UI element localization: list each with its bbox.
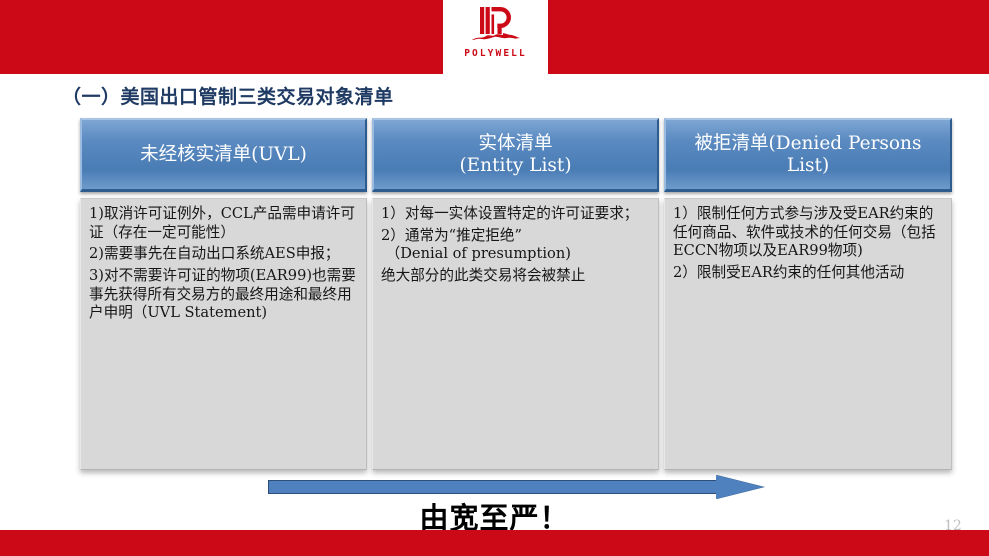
comparison-table: 未经核实清单(UVL) 1)取消许可证例外，CCL产品需申请许可证（存在一定可能… — [80, 118, 952, 470]
column-header-line: 实体清单 — [459, 133, 571, 155]
table-column-uvl: 未经核实清单(UVL) 1)取消许可证例外，CCL产品需申请许可证（存在一定可能… — [80, 118, 367, 470]
brand-wordmark: POLYWELL — [464, 49, 527, 59]
list-item: 2）限制受EAR约束的任何其他活动 — [673, 264, 944, 283]
column-header-uvl: 未经核实清单(UVL) — [80, 118, 367, 192]
table-column-entity-list: 实体清单 (Entity List) 1）对每一实体设置特定的许可证要求； 2）… — [372, 118, 659, 470]
column-header-line: 未经核实清单(UVL) — [140, 144, 307, 166]
list-item: 1）限制任何方式参与涉及受EAR约束的任何商品、软件或技术的任何交易（包括ECC… — [673, 205, 944, 261]
list-item: 2）通常为“推定拒绝” （Denial of presumption) — [381, 227, 651, 264]
column-header-denied-persons-list: 被拒清单(Denied Persons List) — [664, 118, 952, 192]
column-body-denied-persons-list: 1）限制任何方式参与涉及受EAR约束的任何商品、软件或技术的任何交易（包括ECC… — [664, 198, 952, 470]
polywell-p-logo-icon — [470, 4, 522, 48]
list-item: 3)对不需要许可证的物项(EAR99)也需要事先获得所有交易方的最终用途和最终用… — [89, 267, 359, 323]
arrow-shaft — [268, 480, 720, 494]
page-title: （一）美国出口管制三类交易对象清单 — [62, 82, 394, 109]
column-header-line: 被拒清单(Denied Persons List) — [672, 133, 944, 177]
bottom-red-bar — [0, 530, 989, 556]
column-body-uvl: 1)取消许可证例外，CCL产品需申请许可证（存在一定可能性） 2)需要事先在自动… — [80, 198, 367, 470]
table-column-denied-persons-list: 被拒清单(Denied Persons List) 1）限制任何方式参与涉及受E… — [664, 118, 952, 470]
column-header-line: (Entity List) — [459, 155, 571, 177]
list-item: 2)需要事先在自动出口系统AES申报； — [89, 245, 359, 264]
list-item: 绝大部分的此类交易将会被禁止 — [381, 267, 651, 286]
list-item: 1）对每一实体设置特定的许可证要求； — [381, 205, 651, 224]
column-body-entity-list: 1）对每一实体设置特定的许可证要求； 2）通常为“推定拒绝” （Denial o… — [372, 198, 659, 470]
brand-logo: POLYWELL — [443, 0, 548, 74]
column-header-entity-list: 实体清单 (Entity List) — [372, 118, 659, 192]
top-red-banner: POLYWELL — [0, 0, 989, 74]
list-item: 1)取消许可证例外，CCL产品需申请许可证（存在一定可能性） — [89, 205, 359, 242]
